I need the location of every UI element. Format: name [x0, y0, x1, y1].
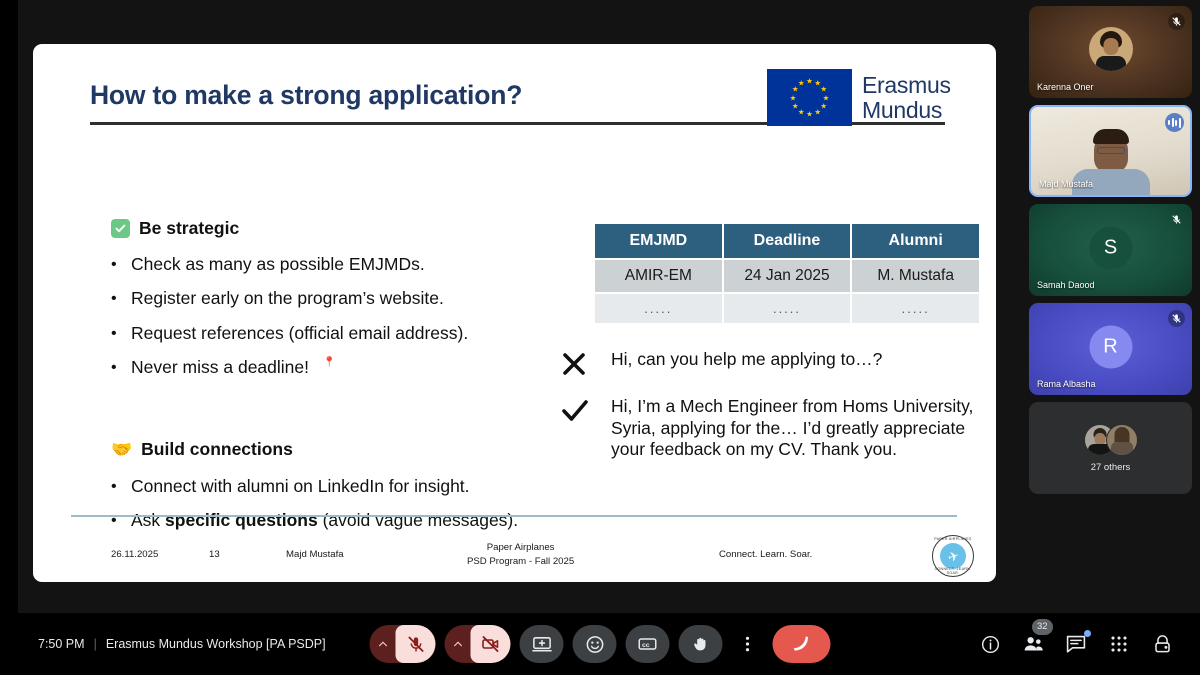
logo-line-1: Erasmus	[862, 73, 951, 97]
slide-title: How to make a strong application?	[90, 80, 522, 111]
example-good-message: Hi, I’m a Mech Engineer from Homs Univer…	[561, 396, 991, 461]
people-button[interactable]: 32	[1021, 632, 1045, 656]
erasmus-mundus-wordmark: Erasmus Mundus	[862, 73, 951, 121]
list-item-text: Request references (official email addre…	[131, 323, 468, 345]
emjmd-table: EMJMD Deadline Alumni AMIR-EM 24 Jan 202…	[593, 222, 981, 325]
footer-motto: Connect. Learn. Soar.	[719, 549, 812, 560]
cell-emjmd: .....	[595, 294, 722, 323]
list-item-text: Check as many as possible EMJMDs.	[131, 254, 425, 276]
others-avatars	[1084, 424, 1138, 456]
meeting-details-button[interactable]	[978, 632, 1002, 656]
bullet-dot-icon: •	[111, 288, 117, 310]
eu-star-icon: ★	[798, 79, 805, 87]
reactions-button[interactable]	[573, 625, 617, 663]
eu-star-icon: ★	[798, 108, 805, 116]
eu-star-icon: ★	[820, 102, 827, 110]
example-good-text: Hi, I’m a Mech Engineer from Homs Univer…	[611, 396, 991, 461]
mic-off-icon[interactable]	[396, 625, 436, 663]
section-heading-be-strategic: Be strategic	[111, 218, 239, 239]
table-row: ..... ..... .....	[595, 294, 979, 323]
participant-tile-rama-albasha[interactable]: R Rama Albasha	[1029, 303, 1192, 395]
cell-deadline: .....	[724, 294, 851, 323]
shared-slide[interactable]: How to make a strong application? ★★★★★★…	[33, 44, 996, 582]
erasmus-mundus-logo: ★★★★★★★★★★★★ Erasmus Mundus	[767, 69, 951, 126]
list-item: • Register early on the program’s websit…	[111, 288, 468, 310]
cell-alumni: M. Mustafa	[852, 260, 979, 292]
chevron-up-icon[interactable]	[445, 625, 471, 663]
list-item-text: Register early on the program’s website.	[131, 288, 444, 310]
logo-globe: ✈	[940, 543, 966, 569]
bullet-dot-icon: •	[111, 323, 117, 345]
eu-star-icon: ★	[806, 110, 813, 118]
avatar: S	[1089, 227, 1132, 270]
participant-tile-majd-mustafa[interactable]: Majd Mustafa	[1029, 105, 1192, 197]
participant-name: Rama Albasha	[1037, 379, 1096, 389]
slide-footer: 26.11.2025 13 Majd Mustafa Paper Airplan…	[33, 527, 996, 582]
mic-muted-icon	[1168, 13, 1185, 30]
pin-emoji-icon: 📍	[323, 357, 335, 370]
eu-star-icon: ★	[792, 102, 799, 110]
bottom-toolbar: 7:50 PM | Erasmus Mundus Workshop [PA PS…	[0, 613, 1200, 675]
call-controls: cc	[370, 625, 831, 663]
list-item: • Connect with alumni on LinkedIn for in…	[111, 476, 518, 498]
google-meet-window: How to make a strong application? ★★★★★★…	[0, 0, 1200, 675]
logo-line-2: Mundus	[862, 98, 951, 122]
column-header-deadline: Deadline	[724, 224, 851, 258]
table-header-row: EMJMD Deadline Alumni	[595, 224, 979, 258]
chevron-up-icon[interactable]	[370, 625, 396, 663]
svg-text:cc: cc	[642, 642, 650, 649]
list-item: • Request references (official email add…	[111, 323, 468, 345]
table-row: AMIR-EM 24 Jan 2025 M. Mustafa	[595, 260, 979, 292]
paper-airplanes-logo-icon: PAPER AIRPLANES ✈ CONNECT. LEARN. SOAR.	[930, 533, 976, 579]
participant-tile-others[interactable]: 27 others	[1029, 402, 1192, 494]
avatar	[1106, 424, 1138, 456]
microphone-off-button[interactable]	[370, 625, 436, 663]
check-icon	[561, 396, 595, 424]
example-bad-message: Hi, can you help me applying to…?	[561, 349, 991, 377]
check-box-icon	[111, 219, 130, 238]
column-header-alumni: Alumni	[852, 224, 979, 258]
list-item: • Check as many as possible EMJMDs.	[111, 254, 468, 276]
section-heading-build-connections: 🤝 Build connections	[111, 439, 293, 460]
unread-indicator-dot	[1084, 630, 1091, 637]
captions-button[interactable]: cc	[626, 625, 670, 663]
example-bad-text: Hi, can you help me applying to…?	[611, 349, 882, 371]
participant-name: Samah Daood	[1037, 280, 1095, 290]
footer-date: 26.11.2025	[111, 549, 158, 560]
end-call-button[interactable]	[773, 625, 831, 663]
section-label: Build connections	[141, 439, 293, 460]
cross-icon	[561, 349, 595, 377]
column-header-emjmd: EMJMD	[595, 224, 722, 258]
footer-page-number: 13	[209, 549, 220, 560]
footer-program: Paper Airplanes PSD Program - Fall 2025	[467, 541, 574, 569]
camera-off-button[interactable]	[445, 625, 511, 663]
mic-muted-icon	[1168, 211, 1185, 228]
participant-name: Karenna Oner	[1037, 82, 1094, 92]
participant-tile-samah-daood[interactable]: S Samah Daood	[1029, 204, 1192, 296]
chat-button[interactable]	[1064, 632, 1088, 656]
cell-alumni: .....	[852, 294, 979, 323]
footer-program-line1: Paper Airplanes	[487, 542, 555, 553]
handshake-icon: 🤝	[111, 441, 132, 458]
list-item: • Never miss a deadline!📍	[111, 357, 468, 379]
footer-author: Majd Mustafa	[286, 549, 344, 560]
footer-program-line2: PSD Program - Fall 2025	[467, 556, 574, 567]
logo-top-text: PAPER AIRPLANES	[930, 537, 976, 541]
list-item-text: Never miss a deadline!	[131, 357, 309, 379]
host-controls-button[interactable]	[1150, 632, 1174, 656]
camera-off-icon[interactable]	[471, 625, 511, 663]
avatar: R	[1089, 326, 1132, 369]
cell-emjmd: AMIR-EM	[595, 260, 722, 292]
participant-name: Majd Mustafa	[1039, 179, 1093, 189]
eu-flag-icon: ★★★★★★★★★★★★	[767, 69, 852, 126]
audio-wave-icon	[1165, 113, 1184, 132]
meeting-meta: 7:50 PM | Erasmus Mundus Workshop [PA PS…	[38, 637, 326, 651]
bullet-dot-icon: •	[111, 357, 117, 379]
others-count-label: 27 others	[1091, 462, 1131, 473]
meeting-time: 7:50 PM	[38, 637, 85, 651]
footer-divider	[71, 515, 957, 517]
raise-hand-button[interactable]	[679, 625, 723, 663]
list-item-text: Connect with alumni on LinkedIn for insi…	[131, 476, 470, 498]
eu-star-icon: ★	[790, 94, 797, 102]
eu-star-icon: ★	[814, 108, 821, 116]
cell-deadline: 24 Jan 2025	[724, 260, 851, 292]
participant-tile-karenna-oner[interactable]: Karenna Oner	[1029, 6, 1192, 98]
participants-count-badge: 32	[1032, 619, 1053, 635]
eu-star-icon: ★	[806, 77, 813, 85]
section-label: Be strategic	[139, 218, 239, 239]
avatar	[1089, 27, 1133, 71]
participant-rail: Karenna Oner Majd Mustafa S Samah Daood …	[1029, 6, 1192, 494]
bullet-dot-icon: •	[111, 476, 117, 498]
bullet-dot-icon: •	[111, 254, 117, 276]
meta-separator: |	[94, 637, 97, 651]
meeting-title: Erasmus Mundus Workshop [PA PSDP]	[106, 637, 326, 651]
activities-button[interactable]	[1107, 632, 1131, 656]
logo-bottom-text: CONNECT. LEARN. SOAR.	[930, 567, 976, 575]
paper-plane-icon: ✈	[946, 548, 960, 564]
meeting-stage: How to make a strong application? ★★★★★★…	[18, 0, 1200, 675]
present-screen-button[interactable]	[520, 625, 564, 663]
bullet-list-strategic: • Check as many as possible EMJMDs. • Re…	[111, 254, 468, 392]
mic-muted-icon	[1168, 310, 1185, 327]
right-controls: 32	[978, 632, 1174, 656]
more-options-button[interactable]	[732, 625, 764, 663]
